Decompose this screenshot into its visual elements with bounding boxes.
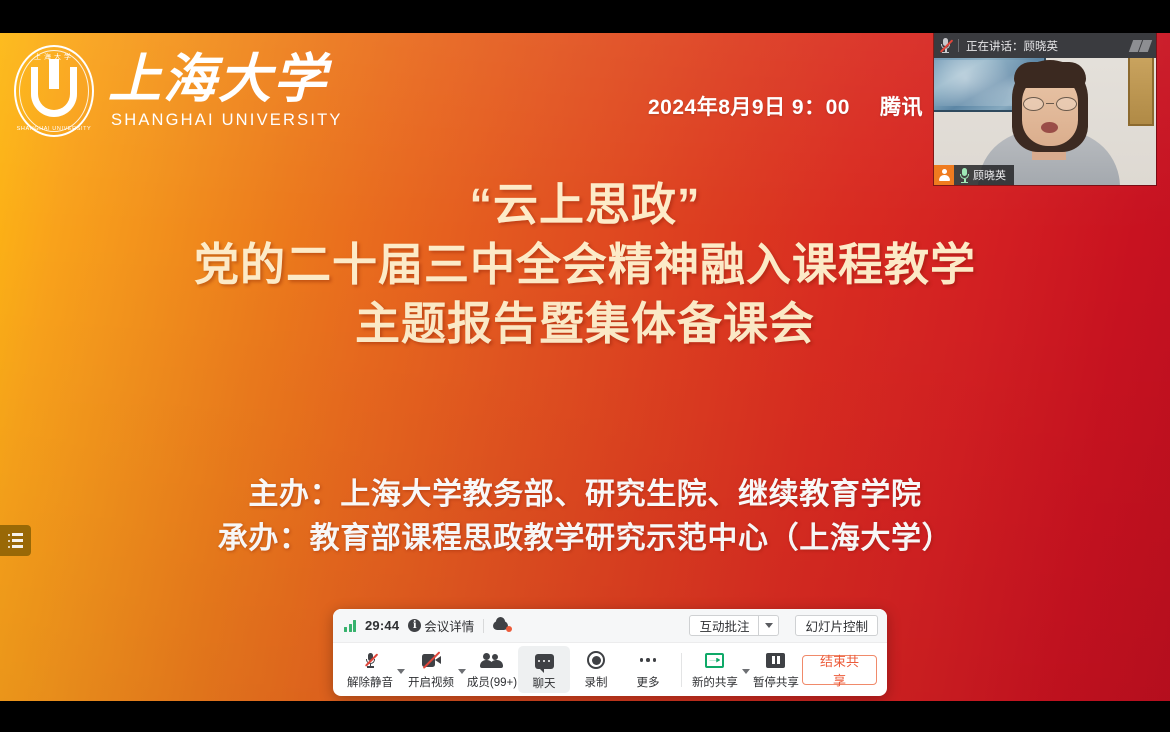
university-emblem-icon: 上海大学 SHANGHAI UNIVERSITY [14, 45, 94, 137]
unmute-button[interactable]: 解除静音 [344, 649, 396, 690]
control-bar-status-row: 29:44 i 会议详情 互动批注 幻灯片控制 [333, 609, 887, 643]
unmute-label: 解除静音 [347, 674, 393, 690]
chat-button[interactable]: 聊天 [518, 646, 570, 693]
record-button[interactable]: 录制 [570, 649, 622, 690]
start-video-label: 开启视频 [408, 674, 454, 690]
host-icon [934, 165, 954, 185]
logo-english-name: SHANGHAI UNIVERSITY [111, 111, 343, 130]
headline-line-3: 主题报告暨集体备课会 [0, 294, 1170, 353]
status-divider [483, 619, 484, 633]
headline-line-2: 党的二十届三中全会精神融入课程教学 [0, 235, 1170, 294]
share-screen-icon [705, 649, 724, 671]
view-layout-icon[interactable] [1131, 40, 1150, 52]
cloud-record-icon[interactable] [493, 619, 512, 632]
participant-name: 顾晓英 [973, 167, 1006, 183]
logo-chinese-name: 上海大学 [108, 52, 343, 108]
camera-off-icon [422, 649, 441, 671]
mute-control-group[interactable]: 解除静音 [344, 649, 405, 690]
header-divider [958, 39, 959, 52]
control-bar-actions-row: 解除静音 开启视频 成员(99+) [333, 643, 887, 696]
meeting-detail-label: 会议详情 [424, 616, 474, 635]
info-icon: i [408, 619, 421, 632]
mic-off-icon [365, 649, 376, 671]
speaker-video-tile[interactable]: 正在讲话：顾晓英 [934, 33, 1156, 185]
speaker-fringe [1014, 62, 1086, 88]
new-share-label: 新的共享 [692, 674, 738, 690]
annotation-button[interactable]: 互动批注 [689, 615, 759, 636]
end-share-button[interactable]: 结束共享 [802, 655, 877, 685]
slide-organizers: 主办：上海大学教务部、研究生院、继续教育学院 承办：教育部课程思政教学研究示范中… [0, 473, 1170, 562]
more-label: 更多 [637, 674, 660, 690]
annotation-button-group[interactable]: 互动批注 [689, 615, 779, 636]
pause-share-icon [766, 649, 785, 671]
organizer-line-1: 主办：上海大学教务部、研究生院、继续教育学院 [0, 473, 1170, 517]
network-quality-icon [344, 620, 356, 632]
annotation-chevron-down-icon[interactable] [759, 615, 779, 636]
video-tile-header: 正在讲话：顾晓英 [934, 33, 1156, 58]
pause-share-label: 暂停共享 [753, 674, 799, 690]
meeting-platform: 腾讯 [880, 91, 923, 121]
participant-mic-icon [959, 168, 969, 182]
mic-off-icon [940, 38, 951, 53]
new-share-button[interactable]: 新的共享 [689, 649, 741, 690]
more-icon [640, 649, 657, 671]
slide-headline: “云上思政” 党的二十届三中全会精神融入课程教学 主题报告暨集体备课会 [0, 176, 1170, 353]
meeting-control-bar: 29:44 i 会议详情 互动批注 幻灯片控制 [333, 609, 887, 696]
record-label: 录制 [585, 674, 608, 690]
speaking-now-label: 正在讲话：顾晓英 [966, 38, 1058, 54]
background-frame [1128, 58, 1154, 126]
participants-button[interactable]: 成员(99+) [466, 649, 518, 690]
meeting-datetime-row: 2024年8月9日 9：00 腾讯 [648, 91, 923, 121]
people-icon [481, 649, 503, 671]
speaker-mouth [1041, 122, 1058, 133]
record-icon [587, 649, 605, 671]
meeting-screen: 上海大学 SHANGHAI UNIVERSITY 上海大学 SHANGHAI U… [0, 0, 1170, 732]
organizer-line-2: 承办：教育部课程思政教学研究示范中心（上海大学） [0, 517, 1170, 561]
meeting-datetime: 2024年8月9日 9：00 [648, 91, 850, 121]
speaker-glasses [1023, 96, 1077, 111]
meeting-detail-button[interactable]: i 会议详情 [408, 616, 474, 635]
shanghai-university-logo: 上海大学 SHANGHAI UNIVERSITY 上海大学 SHANGHAI U… [14, 45, 343, 137]
actions-divider [681, 653, 682, 687]
list-view-icon[interactable] [0, 525, 31, 556]
new-share-group[interactable]: 新的共享 [689, 649, 750, 690]
pause-share-button[interactable]: 暂停共享 [750, 649, 802, 690]
emblem-arc-text: SHANGHAI UNIVERSITY [14, 126, 94, 132]
audio-chevron-down-icon[interactable] [397, 669, 405, 674]
video-tile-footer: 顾晓英 [934, 165, 1014, 185]
more-button[interactable]: 更多 [622, 649, 674, 690]
chat-label: 聊天 [533, 675, 556, 691]
participants-label: 成员(99+) [467, 674, 517, 690]
meeting-timer: 29:44 [365, 618, 399, 633]
share-chevron-down-icon[interactable] [742, 669, 750, 674]
start-video-button[interactable]: 开启视频 [405, 649, 457, 690]
chat-icon [535, 650, 554, 672]
participant-name-chip: 顾晓英 [954, 165, 1014, 185]
video-control-group[interactable]: 开启视频 [405, 649, 466, 690]
video-chevron-down-icon[interactable] [458, 669, 466, 674]
slide-control-button[interactable]: 幻灯片控制 [795, 615, 878, 636]
